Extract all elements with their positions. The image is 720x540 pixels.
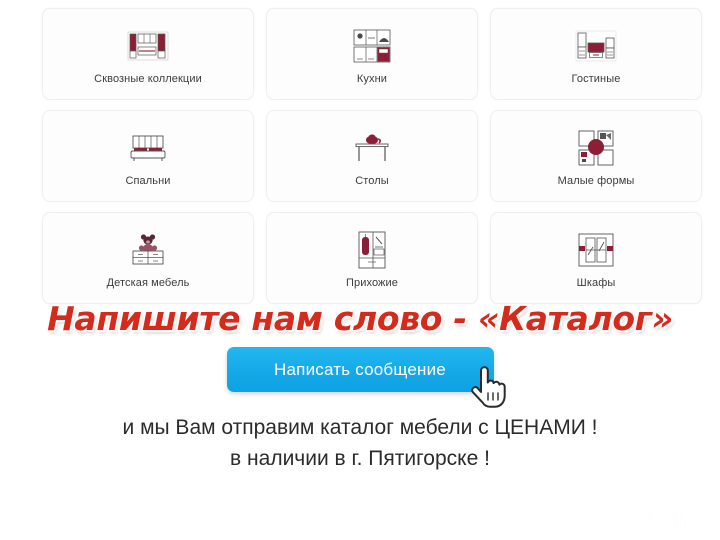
category-label: Детская мебель	[107, 277, 190, 289]
cta-container: Написать сообщение	[0, 347, 720, 392]
category-card-kitchen[interactable]: Кухни	[266, 8, 478, 100]
category-card-wardrobes[interactable]: Шкафы	[490, 212, 702, 304]
category-card-bedroom[interactable]: Спальни	[42, 110, 254, 202]
teddy-bear-dresser-icon	[128, 230, 168, 270]
bottom-copy-line-1: и мы Вам отправим каталог мебели с ЦЕНАМ…	[0, 412, 720, 443]
avito-watermark: Avito	[610, 503, 710, 532]
write-message-button[interactable]: Написать сообщение	[227, 347, 494, 392]
category-label: Кухни	[357, 73, 387, 85]
small-forms-grid-icon	[578, 128, 614, 168]
avito-logo-icon	[610, 505, 636, 531]
bed-icon	[128, 128, 168, 168]
hallway-closet-icon	[358, 230, 386, 270]
avito-watermark-text: Avito	[640, 503, 710, 532]
category-grid: Сквозные коллекции Кухни	[42, 8, 678, 304]
category-card-wall-unit[interactable]: Сквозные коллекции	[42, 8, 254, 100]
category-label: Гостиные	[572, 73, 621, 85]
category-card-tables[interactable]: Столы	[266, 110, 478, 202]
living-room-unit-icon	[575, 26, 617, 66]
category-label: Прихожие	[346, 277, 398, 289]
category-card-small-forms[interactable]: Малые формы	[490, 110, 702, 202]
category-card-kids-furniture[interactable]: Детская мебель	[42, 212, 254, 304]
category-label: Малые формы	[558, 175, 635, 187]
category-label: Спальни	[125, 175, 170, 187]
category-label: Столы	[355, 175, 389, 187]
category-label: Шкафы	[577, 277, 616, 289]
page-headline: Напишите нам слово - «Каталог»	[0, 299, 720, 338]
category-card-hallway[interactable]: Прихожие	[266, 212, 478, 304]
bottom-copy: и мы Вам отправим каталог мебели с ЦЕНАМ…	[0, 412, 720, 474]
category-card-living-room[interactable]: Гостиные	[490, 8, 702, 100]
bottom-copy-line-2: в наличии в г. Пятигорске !	[0, 443, 720, 474]
wardrobe-icon	[578, 230, 614, 270]
category-label: Сквозные коллекции	[94, 73, 202, 85]
table-with-teapot-icon	[352, 128, 392, 168]
wall-unit-icon	[127, 26, 169, 66]
kitchen-cabinets-icon	[353, 26, 391, 66]
